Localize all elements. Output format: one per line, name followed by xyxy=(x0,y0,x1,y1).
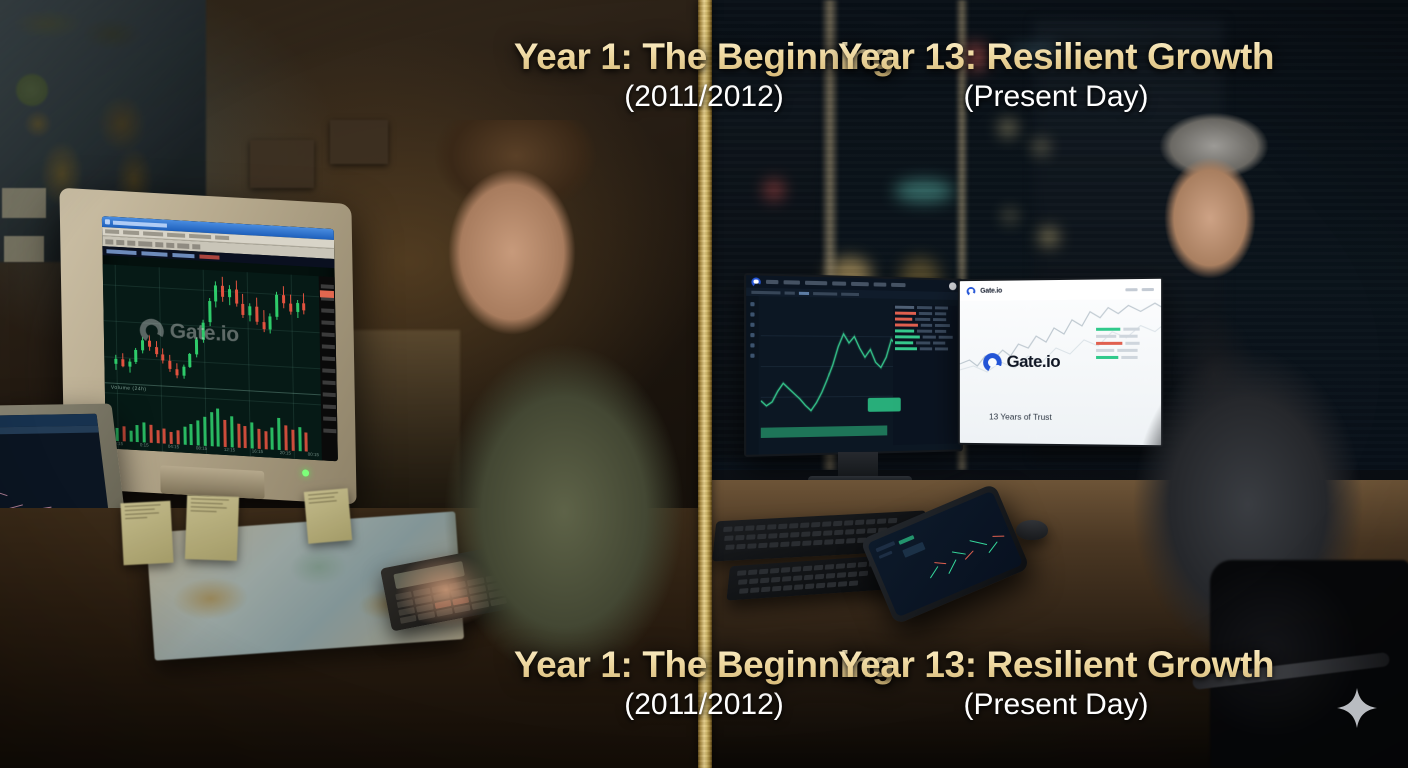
volume-bar xyxy=(156,430,159,443)
volume-bar xyxy=(142,422,145,443)
candle xyxy=(235,281,238,308)
wall-note-1 xyxy=(2,188,46,218)
volume-bar xyxy=(264,431,267,449)
crt-bezel-controls xyxy=(160,465,264,499)
candle xyxy=(161,348,164,364)
gate-chart-line xyxy=(761,313,912,431)
toolbar-save-icon[interactable] xyxy=(116,239,124,244)
candle xyxy=(302,294,305,314)
volume-bar xyxy=(250,422,253,448)
gate-app-body xyxy=(746,296,961,455)
gate-brand-text: Gate.io xyxy=(1007,352,1061,372)
candle xyxy=(296,299,299,318)
x-axis-tick: 08:15 xyxy=(196,445,207,451)
toolbar-open-icon[interactable] xyxy=(105,239,113,244)
toolbar-trendline-icon[interactable] xyxy=(166,242,174,247)
volume-bar xyxy=(216,408,220,446)
nav-assets[interactable] xyxy=(874,282,887,286)
toolbar-print-icon[interactable] xyxy=(127,240,135,245)
menu-file[interactable] xyxy=(105,229,119,234)
sticky-note-2 xyxy=(185,495,239,561)
menu-tools[interactable] xyxy=(189,234,211,239)
gate-header-text: Gate.io xyxy=(980,287,1002,294)
volume-bar xyxy=(277,418,281,450)
volume-bar xyxy=(257,429,260,449)
volume-bar xyxy=(190,424,193,445)
panel-divider xyxy=(698,0,712,768)
tab-trades[interactable] xyxy=(841,292,859,295)
volume-bar xyxy=(210,413,214,447)
sparkle-watermark-icon xyxy=(1336,687,1378,729)
candle xyxy=(275,292,278,320)
nav-futures[interactable] xyxy=(784,280,800,284)
candle xyxy=(188,352,191,368)
gate-logo-icon xyxy=(140,318,164,343)
symbol-change xyxy=(199,254,219,259)
symbol-timeframe xyxy=(141,251,167,256)
candle xyxy=(121,353,124,367)
x-axis-tick: 00:15 xyxy=(308,452,319,458)
nav-wallet[interactable] xyxy=(891,283,905,287)
candle xyxy=(168,354,171,371)
volume-bar xyxy=(183,427,186,445)
candle xyxy=(289,295,292,315)
avatar[interactable] xyxy=(949,282,956,290)
pinned-photo-1 xyxy=(330,120,388,164)
wall-note-2 xyxy=(4,236,44,262)
gate-logo-icon xyxy=(983,353,1002,372)
sticky-note-3 xyxy=(304,488,352,544)
volume-bar xyxy=(271,427,274,450)
volume-bar xyxy=(305,432,308,451)
toolbar-crosshair-icon[interactable] xyxy=(155,242,163,247)
candle xyxy=(221,277,224,302)
candle xyxy=(228,285,231,305)
volume-bar xyxy=(237,424,240,448)
candle xyxy=(262,310,265,332)
tab-info[interactable] xyxy=(813,292,837,296)
gate-watermark-text: Gate.io xyxy=(170,320,240,348)
order-book[interactable] xyxy=(893,305,957,445)
power-led-icon xyxy=(302,469,309,476)
symbol-name xyxy=(106,249,136,255)
candle xyxy=(175,363,178,379)
sticky-note-1 xyxy=(120,501,173,566)
volume-bar xyxy=(170,432,173,444)
nav-copy[interactable] xyxy=(832,281,846,285)
trust-tagline: 13 Years of Trust xyxy=(989,411,1052,421)
nav-earn[interactable] xyxy=(805,281,827,286)
gate-brand-lockup: Gate.io xyxy=(983,352,1060,372)
buy-button[interactable] xyxy=(868,398,901,412)
panel-year-13: Gate.io xyxy=(704,0,1408,768)
symbol-last-price xyxy=(172,252,194,257)
x-axis-tick: 0:15 xyxy=(140,442,149,447)
x-axis-tick: 20:15 xyxy=(280,450,291,456)
window-title-text xyxy=(113,220,167,227)
volume-bar xyxy=(203,416,207,445)
crt-screen: Volume (24h) 20:150:1504:1508:1512:1516:… xyxy=(102,216,338,461)
price-chart[interactable]: Volume (24h) 20:150:1504:1508:1512:1516:… xyxy=(103,264,338,461)
candle xyxy=(128,358,131,372)
volume-bar xyxy=(122,427,125,442)
menu-view[interactable] xyxy=(143,231,163,236)
volume-bar xyxy=(230,417,234,448)
candle xyxy=(269,313,272,333)
nav-spot[interactable] xyxy=(766,280,778,284)
candle xyxy=(134,348,137,364)
gate-sidebar[interactable] xyxy=(746,296,759,455)
volume-bar xyxy=(163,428,166,443)
volume-bar xyxy=(196,420,199,446)
volume-bar xyxy=(223,420,226,447)
gate-logo-icon xyxy=(967,286,976,295)
toolbar-zoom-icon[interactable] xyxy=(138,241,152,247)
monitor-stand xyxy=(838,452,878,478)
candle xyxy=(155,341,158,357)
x-axis-tick: 12:15 xyxy=(224,447,235,453)
volume-bar xyxy=(176,430,179,444)
toolbar-refresh-icon[interactable] xyxy=(192,244,200,249)
window-icon xyxy=(105,219,110,224)
position-band xyxy=(761,425,887,438)
volume-bar xyxy=(149,425,152,443)
pinned-photo-2 xyxy=(250,140,314,188)
candle xyxy=(214,281,217,308)
candle xyxy=(182,365,185,379)
volume-bar xyxy=(244,426,247,448)
person-year-1 xyxy=(386,120,704,768)
volume-bar xyxy=(129,431,132,442)
nav-more[interactable] xyxy=(851,282,869,286)
candle xyxy=(255,297,258,325)
volume-bar xyxy=(298,427,301,452)
x-axis-tick: 04:15 xyxy=(168,444,179,450)
menu-edit[interactable] xyxy=(123,230,139,235)
tab-chart[interactable] xyxy=(785,291,795,294)
volume-bar xyxy=(284,425,287,451)
toolbar-indicator-icon[interactable] xyxy=(177,243,189,249)
price-axis[interactable] xyxy=(319,276,338,461)
panel-year-1: Volume (24h) 20:150:1504:1508:1512:1516:… xyxy=(0,0,704,768)
computer-mouse[interactable] xyxy=(1016,520,1048,540)
candle xyxy=(114,355,117,371)
volume-bar xyxy=(136,425,139,442)
candle xyxy=(282,286,285,308)
menu-help[interactable] xyxy=(215,235,229,240)
menu-chart[interactable] xyxy=(167,233,185,238)
monitor-dark-trading[interactable] xyxy=(744,273,963,457)
candle xyxy=(248,303,251,322)
candle xyxy=(241,293,244,318)
pair-selector[interactable] xyxy=(751,290,780,294)
volume-bar xyxy=(291,429,294,451)
x-axis-tick: 16:15 xyxy=(252,448,263,454)
last-price-tag xyxy=(320,290,334,298)
volume-bar xyxy=(116,428,119,441)
comparison-image: Volume (24h) 20:150:1504:1508:1512:1516:… xyxy=(0,0,1408,768)
gate-logo-icon xyxy=(751,277,760,286)
tab-depth[interactable] xyxy=(799,291,809,294)
